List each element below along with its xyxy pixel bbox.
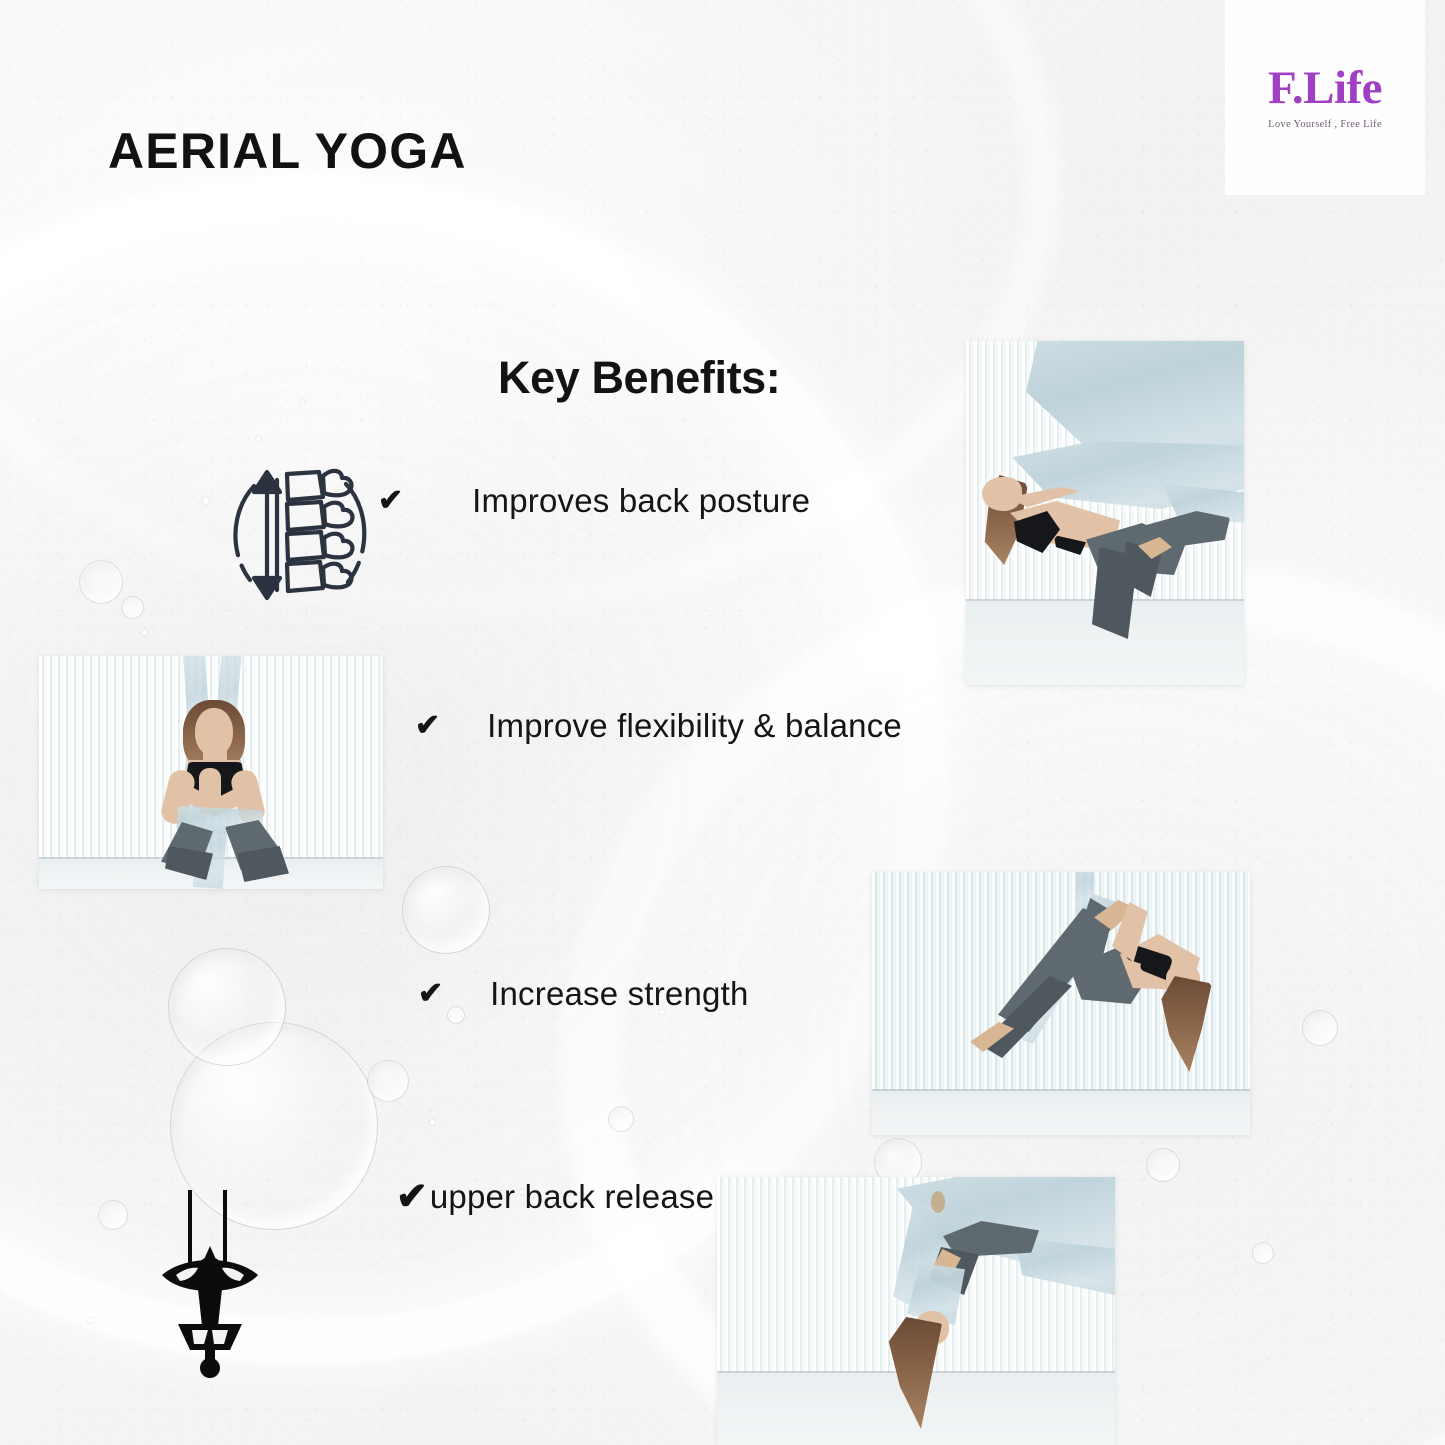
water-speck xyxy=(142,630,147,635)
benefit-row-3: ✔ Increase strength xyxy=(418,975,749,1013)
checkmark-icon: ✔ xyxy=(418,979,443,1009)
brand-logo-tagline: Love Yourself , Free Life xyxy=(1268,119,1382,130)
water-speck xyxy=(203,498,209,504)
water-speck xyxy=(256,436,261,441)
water-bubble xyxy=(121,596,144,619)
benefit-label-3: Increase strength xyxy=(490,975,748,1013)
benefit-label-4: upper back release xyxy=(430,1178,714,1216)
benefit-row-4: ✔ upper back release xyxy=(396,1178,714,1216)
water-bubble xyxy=(98,1200,128,1230)
water-bubble xyxy=(79,560,123,604)
water-bubble xyxy=(367,1060,409,1102)
water-bubble xyxy=(1252,1242,1274,1264)
water-bubble xyxy=(608,1106,634,1132)
photo-woman-seated-in-hammock-prayer-pose xyxy=(39,656,383,889)
benefit-label-2: Improve flexibility & balance xyxy=(487,707,902,745)
checkmark-icon: ✔ xyxy=(378,486,403,516)
brand-logo: F.Life Love Yourself , Free Life xyxy=(1225,0,1425,195)
benefit-label-1: Improves back posture xyxy=(472,482,810,520)
checkmark-icon: ✔ xyxy=(396,1178,428,1216)
photo-woman-hanging-upside-down-in-hammock xyxy=(717,1177,1115,1445)
water-speck xyxy=(300,400,304,404)
section-heading-key-benefits: Key Benefits: xyxy=(498,352,780,404)
water-speck xyxy=(88,1318,93,1323)
water-bubble xyxy=(1146,1148,1180,1182)
photo-woman-inverted-split-in-hammock xyxy=(872,872,1250,1135)
water-speck xyxy=(430,1120,435,1125)
page-title: AERIAL YOGA xyxy=(108,122,467,180)
water-bubble xyxy=(402,866,490,954)
aerial-yoga-silhouette-icon xyxy=(150,1190,270,1380)
benefit-row-1: ✔ Improves back posture xyxy=(378,482,810,520)
water-bubble xyxy=(168,948,286,1066)
benefit-row-2: ✔ Improve flexibility & balance xyxy=(415,707,902,745)
photo-woman-in-aerial-hammock-backbend xyxy=(966,341,1244,685)
poster-canvas: F.Life Love Yourself , Free Life AERIAL … xyxy=(0,0,1445,1445)
brand-logo-wordmark: F.Life xyxy=(1268,65,1382,112)
background-swoosh-top xyxy=(0,0,1060,620)
checkmark-icon: ✔ xyxy=(415,711,440,741)
water-bubble xyxy=(1302,1010,1338,1046)
spine-vertebrae-icon xyxy=(220,450,380,610)
